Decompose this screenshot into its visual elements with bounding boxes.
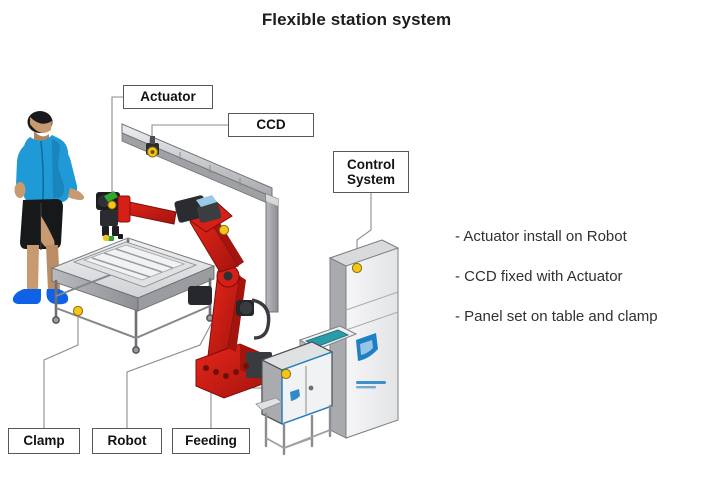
callout-robot[interactable]: Robot [92,428,162,454]
leader-clamp [44,311,78,428]
note-item: - CCD fixed with Actuator [455,268,710,286]
notes-list: - Actuator install on Robot - CCD fixed … [455,228,710,348]
callout-ccd[interactable]: CCD [228,113,314,137]
note-item: - Actuator install on Robot [455,228,710,246]
leader-actuator [112,97,123,205]
callout-clamp[interactable]: Clamp [8,428,80,454]
callout-feeding[interactable]: Feeding [172,428,250,454]
callout-control-system[interactable]: Control System [333,151,409,193]
actuator-head [96,191,130,241]
diagram-canvas: Flexible station system [0,0,713,477]
callout-actuator[interactable]: Actuator [123,85,213,109]
note-item: - Panel set on table and clamp [455,308,710,326]
